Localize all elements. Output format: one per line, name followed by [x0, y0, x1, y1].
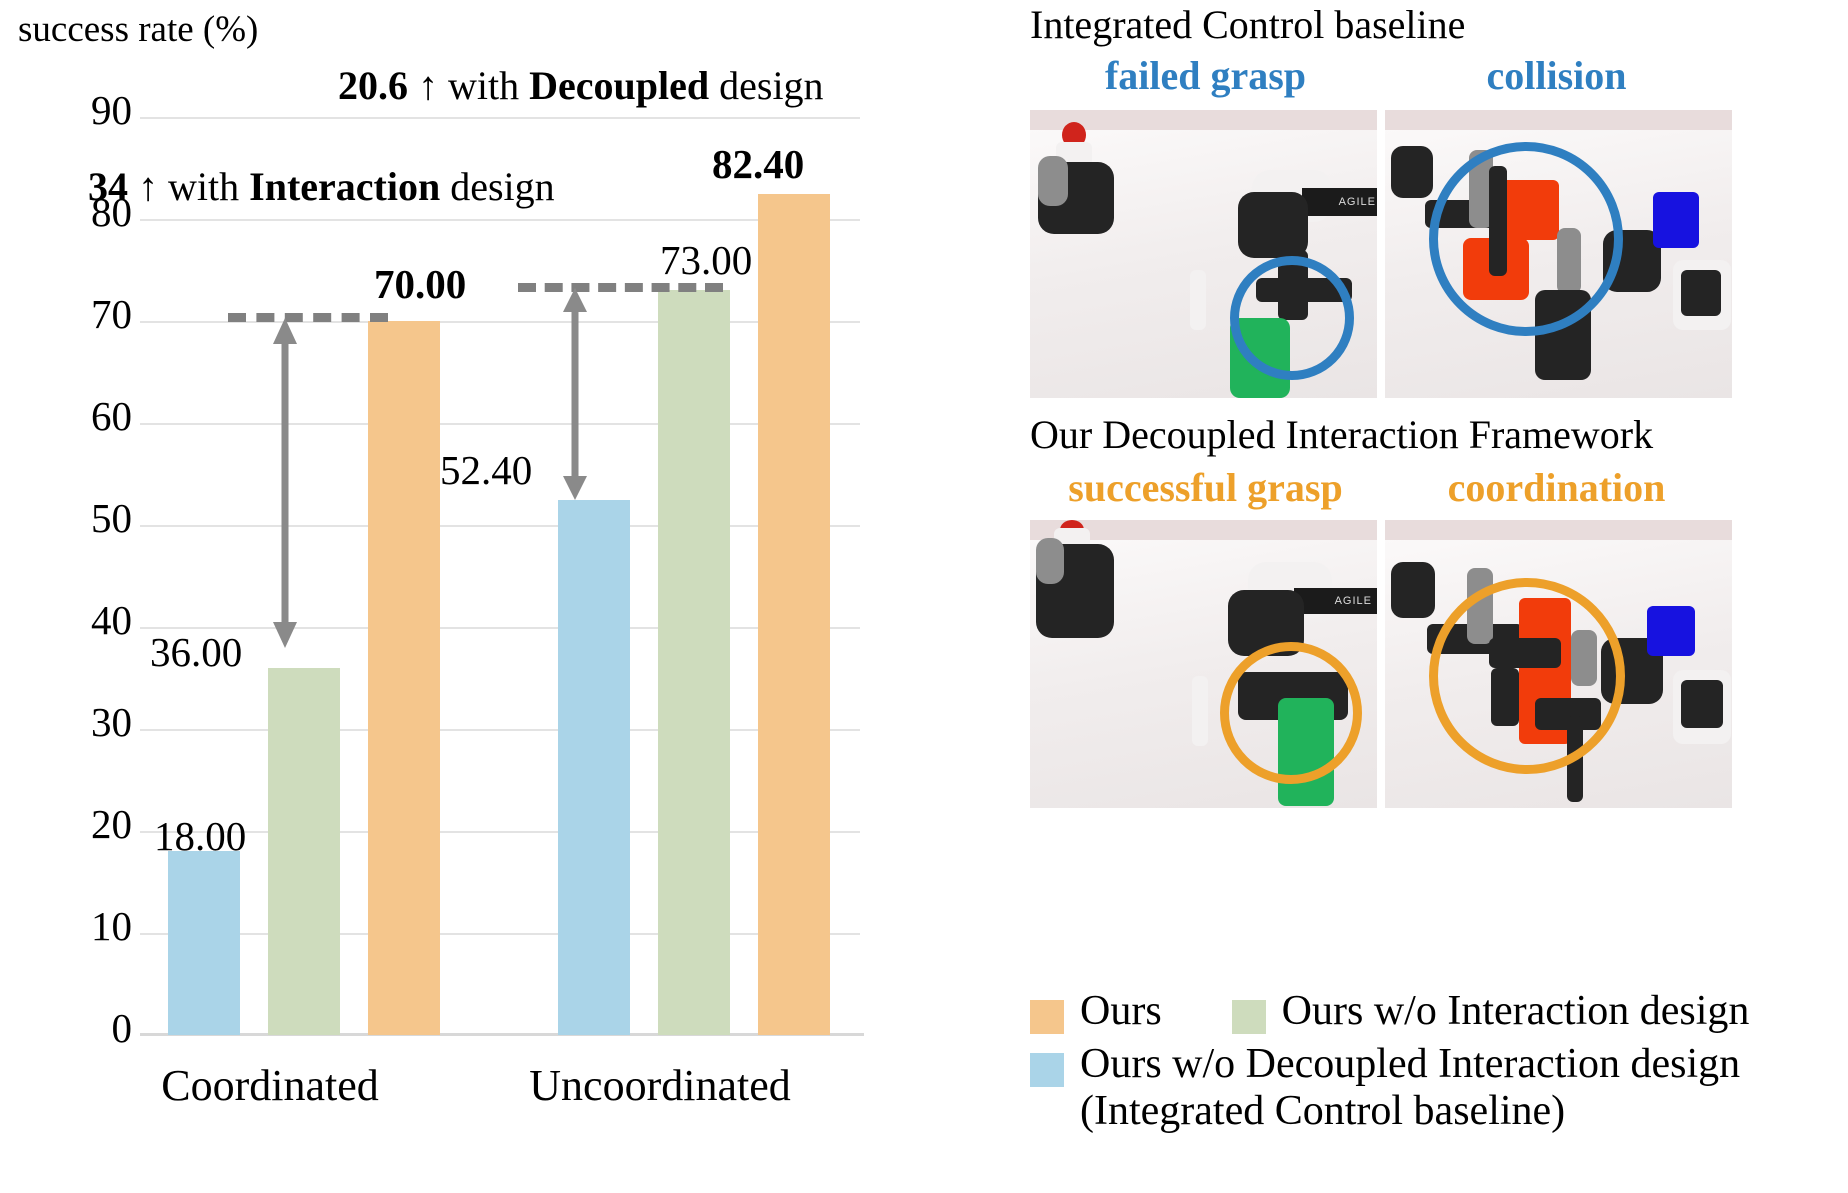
caption-collision: collision — [1381, 52, 1732, 99]
y-tick-20: 20 — [20, 800, 132, 848]
baseline-caption-row: failed grasp collision — [1030, 52, 1732, 99]
gridline-50 — [140, 525, 860, 527]
y-tick-30: 30 — [20, 698, 132, 746]
baseline-section-title: Integrated Control baseline — [1030, 4, 1465, 46]
reference-line-70 — [228, 313, 388, 322]
delta-arrow-uncoordinated — [560, 288, 590, 500]
legend-swatch-ours — [1030, 1000, 1064, 1034]
gridline-20 — [140, 831, 860, 833]
agile-brand-tag: AGILE — [1302, 188, 1377, 216]
qualitative-results-panel: Integrated Control baseline failed grasp… — [1030, 0, 1848, 1193]
caption-coordination: coordination — [1381, 464, 1732, 511]
y-tick-0: 0 — [20, 1004, 132, 1052]
y-axis-ticks: 90 80 70 60 50 40 30 20 10 0 — [0, 100, 132, 1035]
legend-swatch-no-interaction — [1232, 1000, 1266, 1034]
gridline-40 — [140, 627, 860, 629]
photo-successful-grasp: AGILE — [1030, 520, 1377, 808]
bar-value-coordinated-no-interaction: 36.00 — [150, 628, 242, 676]
bar-coordinated-baseline — [168, 851, 240, 1035]
highlight-circle-collision-icon — [1429, 142, 1623, 336]
bar-uncoordinated-baseline — [558, 500, 630, 1035]
gridline-10 — [140, 933, 860, 935]
caption-failed-grasp: failed grasp — [1030, 52, 1381, 99]
highlight-circle-coordination-icon — [1429, 578, 1625, 774]
bar-value-coordinated-ours: 70.00 — [374, 260, 466, 308]
baseline-photo-row: AGILE — [1030, 110, 1732, 398]
ours-caption-row: successful grasp coordination — [1030, 464, 1732, 511]
y-axis-title: success rate (%) — [18, 8, 258, 51]
gridline-90 — [140, 117, 860, 119]
photo-failed-grasp: AGILE — [1030, 110, 1377, 398]
highlight-circle-successful-grasp-icon — [1220, 642, 1362, 784]
legend-label-baseline: Ours w/o Decoupled Interaction design — [1080, 1041, 1740, 1088]
chart-legend: Ours Ours w/o Interaction design Ours w/… — [1030, 988, 1848, 1135]
gridline-30 — [140, 729, 860, 731]
bar-value-uncoordinated-baseline: 52.40 — [440, 446, 532, 494]
gridline-80 — [140, 219, 860, 221]
x-axis-baseline — [140, 1033, 864, 1036]
bar-uncoordinated-no-interaction — [658, 290, 730, 1035]
photo-collision — [1385, 110, 1732, 398]
ours-section-title: Our Decoupled Interaction Framework — [1030, 414, 1653, 456]
legend-row-1: Ours Ours w/o Interaction design — [1030, 988, 1848, 1035]
left-arm-blob — [1038, 156, 1068, 206]
photo-top-band — [1385, 110, 1732, 130]
left-arm-blob — [1036, 538, 1064, 584]
bar-value-coordinated-baseline: 18.00 — [154, 812, 246, 860]
right-gripper-body-blob — [1238, 192, 1308, 258]
stand-pole-blob — [1190, 270, 1206, 330]
stand-pole-blob — [1192, 676, 1208, 746]
blue-object-blob — [1653, 192, 1699, 248]
y-tick-10: 10 — [20, 902, 132, 950]
highlight-circle-failed-grasp-icon — [1230, 256, 1354, 380]
photo-coordination — [1385, 520, 1732, 808]
right-device-screen-blob — [1681, 680, 1723, 728]
legend-row-2: Ours w/o Decoupled Interaction design (I… — [1030, 1041, 1848, 1135]
x-category-coordinated: Coordinated — [161, 1060, 379, 1111]
photo-top-band — [1385, 520, 1732, 540]
y-tick-70: 70 — [20, 290, 132, 338]
left-arm-blob — [1391, 146, 1433, 198]
plot-area: 18.00 36.00 70.00 52.40 73.00 82.40 — [140, 100, 860, 1035]
bar-value-uncoordinated-no-interaction: 73.00 — [660, 236, 752, 284]
bar-chart-panel: success rate (%) 20.6 ↑ with Decoupled d… — [0, 0, 880, 1193]
x-category-uncoordinated: Uncoordinated — [529, 1060, 790, 1111]
y-tick-50: 50 — [20, 494, 132, 542]
legend-swatch-baseline — [1030, 1053, 1064, 1087]
legend-sublabel-baseline: (Integrated Control baseline) — [1080, 1088, 1740, 1135]
gridline-60 — [140, 423, 860, 425]
legend-label-ours: Ours — [1080, 988, 1162, 1035]
y-tick-40: 40 — [20, 596, 132, 644]
legend-label-no-interaction: Ours w/o Interaction design — [1282, 988, 1750, 1035]
bar-coordinated-ours — [368, 321, 440, 1035]
reference-line-73 — [518, 283, 723, 292]
blue-object-blob — [1647, 606, 1695, 656]
delta-arrow-coordinated — [270, 318, 300, 648]
right-device-screen-blob — [1681, 270, 1721, 316]
left-arm-blob — [1391, 562, 1435, 618]
agile-brand-tag: AGILE — [1294, 588, 1377, 614]
y-tick-80: 80 — [20, 188, 132, 236]
ours-photo-row: AGILE — [1030, 520, 1732, 808]
caption-successful-grasp: successful grasp — [1030, 464, 1381, 511]
bar-value-uncoordinated-ours: 82.40 — [712, 140, 804, 188]
y-tick-90: 90 — [20, 86, 132, 134]
bar-uncoordinated-ours — [758, 194, 830, 1035]
y-tick-60: 60 — [20, 392, 132, 440]
bar-coordinated-no-interaction — [268, 668, 340, 1035]
